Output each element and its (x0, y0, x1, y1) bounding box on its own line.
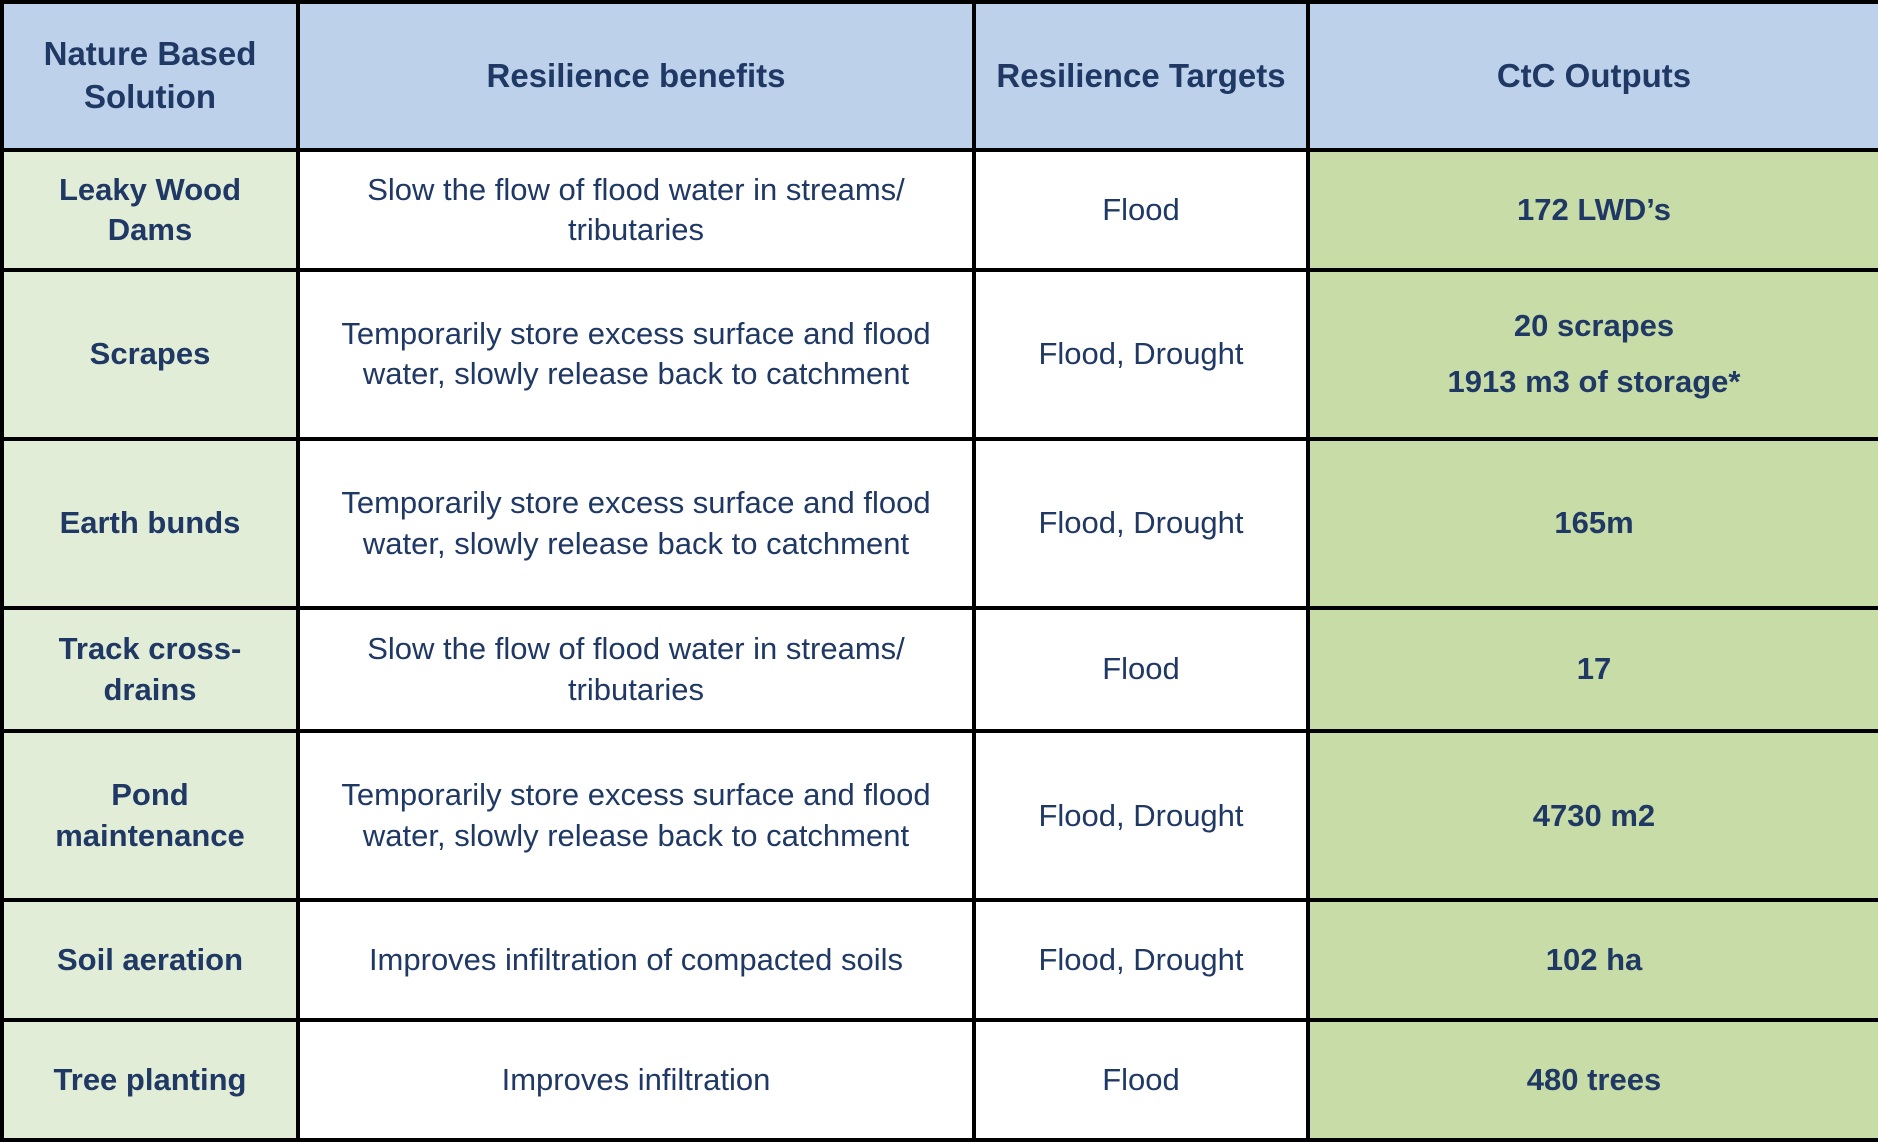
cell-solution: Tree planting (2, 1020, 298, 1140)
table-body: Leaky Wood Dams Slow the flow of flood w… (2, 150, 1878, 1140)
output-line: 480 trees (1320, 1060, 1868, 1100)
cell-outputs: 172 LWD’s (1308, 150, 1878, 270)
cell-benefits: Temporarily store excess surface and flo… (298, 731, 974, 900)
table-row: Tree planting Improves infiltration Floo… (2, 1020, 1878, 1140)
cell-benefits: Temporarily store excess surface and flo… (298, 270, 974, 439)
cell-benefits: Improves infiltration of compacted soils (298, 900, 974, 1020)
cell-targets: Flood (974, 1020, 1308, 1140)
output-line: 102 ha (1320, 940, 1868, 980)
nature-based-solutions-table: Nature Based Solution Resilience benefit… (0, 0, 1878, 1142)
output-line: 17 (1320, 649, 1868, 689)
cell-solution: Pond maintenance (2, 731, 298, 900)
header-row: Nature Based Solution Resilience benefit… (2, 2, 1878, 150)
cell-targets: Flood (974, 150, 1308, 270)
column-header-benefits: Resilience benefits (298, 2, 974, 150)
cell-benefits: Slow the flow of flood water in streams/… (298, 608, 974, 731)
cell-solution: Scrapes (2, 270, 298, 439)
output-line: 172 LWD’s (1320, 190, 1868, 230)
output-line: 1913 m3 of storage* (1320, 362, 1868, 402)
table-row: Pond maintenance Temporarily store exces… (2, 731, 1878, 900)
table-row: Track cross-drains Slow the flow of floo… (2, 608, 1878, 731)
cell-targets: Flood, Drought (974, 731, 1308, 900)
cell-solution: Leaky Wood Dams (2, 150, 298, 270)
cell-solution: Track cross-drains (2, 608, 298, 731)
table-row: Earth bunds Temporarily store excess sur… (2, 439, 1878, 608)
column-header-solution: Nature Based Solution (2, 2, 298, 150)
cell-outputs: 4730 m2 (1308, 731, 1878, 900)
cell-solution: Soil aeration (2, 900, 298, 1020)
cell-outputs: 480 trees (1308, 1020, 1878, 1140)
table-container: Nature Based Solution Resilience benefit… (0, 0, 1878, 1142)
cell-solution: Earth bunds (2, 439, 298, 608)
cell-benefits: Temporarily store excess surface and flo… (298, 439, 974, 608)
cell-targets: Flood, Drought (974, 270, 1308, 439)
output-line: 165m (1320, 503, 1868, 543)
cell-targets: Flood, Drought (974, 900, 1308, 1020)
table-row: Scrapes Temporarily store excess surface… (2, 270, 1878, 439)
output-line: 4730 m2 (1320, 796, 1868, 836)
table-row: Soil aeration Improves infiltration of c… (2, 900, 1878, 1020)
table-header: Nature Based Solution Resilience benefit… (2, 2, 1878, 150)
cell-targets: Flood, Drought (974, 439, 1308, 608)
cell-outputs: 17 (1308, 608, 1878, 731)
cell-benefits: Slow the flow of flood water in streams/… (298, 150, 974, 270)
cell-benefits: Improves infiltration (298, 1020, 974, 1140)
cell-outputs: 102 ha (1308, 900, 1878, 1020)
column-header-targets: Resilience Targets (974, 2, 1308, 150)
column-header-outputs: CtC Outputs (1308, 2, 1878, 150)
output-line: 20 scrapes (1320, 306, 1868, 346)
cell-outputs: 165m (1308, 439, 1878, 608)
cell-targets: Flood (974, 608, 1308, 731)
table-row: Leaky Wood Dams Slow the flow of flood w… (2, 150, 1878, 270)
cell-outputs: 20 scrapes 1913 m3 of storage* (1308, 270, 1878, 439)
